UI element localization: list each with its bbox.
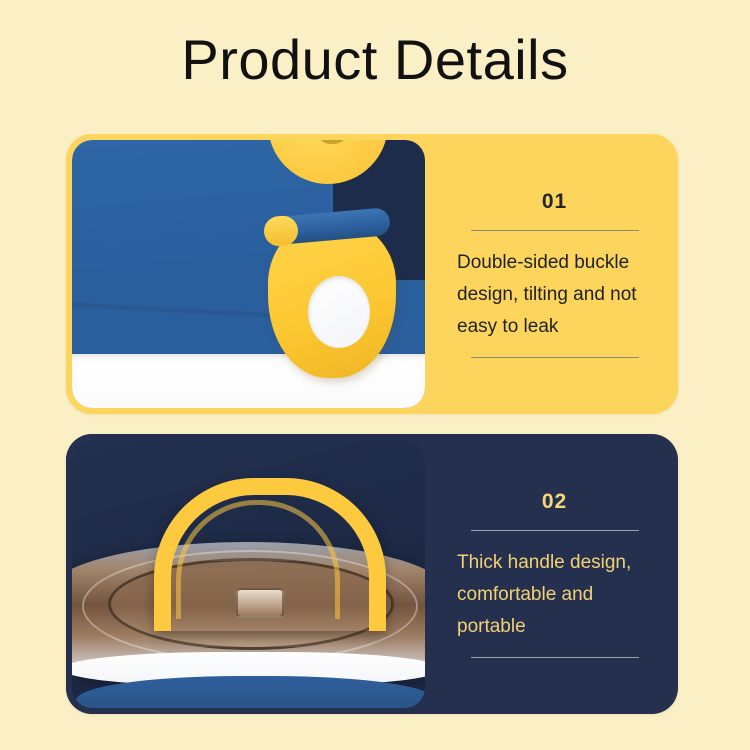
card-number-2: 02 xyxy=(457,490,652,514)
product-info-1: 01 Double-sided buckle design, tilting a… xyxy=(431,134,678,414)
divider-top-2 xyxy=(471,530,639,531)
product-photo-2-image xyxy=(72,440,425,708)
handle-clip xyxy=(236,588,284,618)
card-number-1: 01 xyxy=(457,190,652,214)
divider-bottom-1 xyxy=(471,357,639,358)
product-photo-1-image xyxy=(72,140,425,408)
product-photo-2 xyxy=(66,434,431,714)
card-description-1: Double-sided buckle design, tilting and … xyxy=(457,247,652,343)
divider-bottom-2 xyxy=(471,657,639,658)
buckle-ring-hole xyxy=(308,276,370,348)
product-photo-1 xyxy=(66,134,431,414)
product-detail-card-2: 02 Thick handle design, comfortable and … xyxy=(66,434,678,714)
product-info-2: 02 Thick handle design, comfortable and … xyxy=(431,434,678,714)
divider-top-1 xyxy=(471,230,639,231)
card-description-2: Thick handle design, comfortable and por… xyxy=(457,547,652,643)
page-title: Product Details xyxy=(0,25,750,95)
product-detail-card-1: 01 Double-sided buckle design, tilting a… xyxy=(66,134,678,414)
